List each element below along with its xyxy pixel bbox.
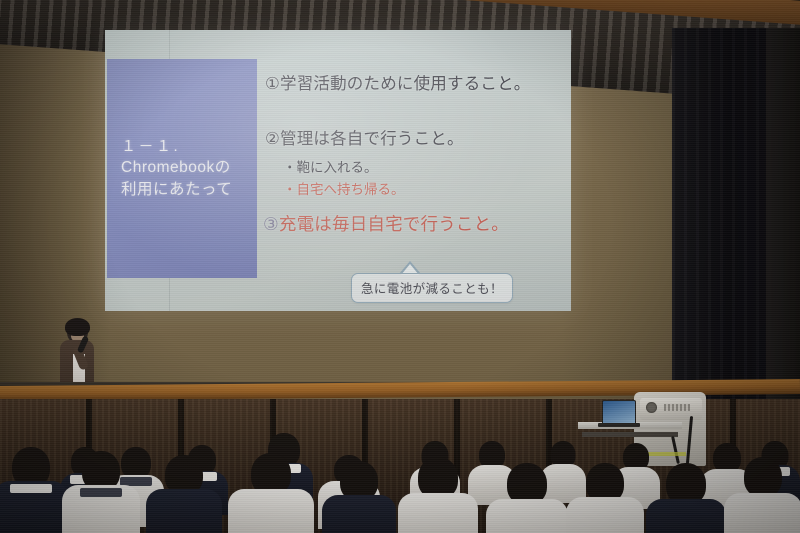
slide-title-block: １－１. Chromebookの 利用にあたって [107,59,257,278]
slide-item-3-marker: ③ [263,214,279,234]
slide-item-2-text: 管理は各自で行うこと。 [280,130,464,148]
list-item [62,451,140,533]
list-item [146,455,222,533]
list-item [724,457,800,533]
list-item [486,463,568,533]
slide-title-line-2: Chromebookの [121,157,232,178]
student-collar [80,488,122,497]
student-collar [10,484,52,493]
slide-item-3-text: 充電は毎日自宅で行うこと。 [279,214,509,234]
slide-subbullet-1: ・鞄に入れる。 [283,156,378,176]
slide-subbullet-2-bullet: ・ [283,182,297,197]
slide-item-1-text: 学習活動のために使用すること。 [280,75,531,93]
slide-item-2-marker: ② [265,130,280,148]
student-head [744,457,782,497]
student-uniform [146,489,222,533]
student-uniform [322,495,396,533]
slide-title-line-3: 利用にあたって [121,179,232,200]
student-uniform [398,493,478,533]
list-item [646,463,726,533]
projection-screen: １－１. Chromebookの 利用にあたって ①学習活動のために使用すること… [105,30,571,311]
slide-item-1: ①学習活動のために使用すること。 [265,74,531,95]
student-uniform [566,497,644,533]
student-uniform [228,489,314,533]
slide-subbullet-2-text: 自宅へ持ち帰る。 [297,182,405,197]
slide-item-1-marker: ① [265,75,280,93]
slide-subbullet-1-bullet: ・ [283,160,297,175]
assembly-room-photo: １－１. Chromebookの 利用にあたって ①学習活動のために使用すること… [0,0,800,533]
slide-subbullet-2: ・自宅へ持ち帰る。 [283,178,405,198]
presenter-hair [65,318,90,336]
slide-title-text: １－１. Chromebookの 利用にあたって [107,137,232,200]
slide-title-line-1: １－１. [121,137,232,158]
list-item [322,461,396,533]
list-item [0,447,68,533]
list-item [228,453,314,533]
student-uniform [646,499,726,533]
list-item [398,457,478,533]
slide-item-3: ③充電は毎日自宅で行うこと。 [263,214,509,236]
curtain-edge-right [766,28,800,410]
slide-callout: 急に電池が減ることも！ [351,273,513,303]
slide-item-2: ②管理は各自で行うこと。 [265,129,464,150]
student-uniform [486,499,568,533]
list-item [566,463,644,533]
student-uniform [724,493,800,533]
audience [0,399,800,533]
slide-subbullet-1-text: 鞄に入れる。 [297,160,378,175]
